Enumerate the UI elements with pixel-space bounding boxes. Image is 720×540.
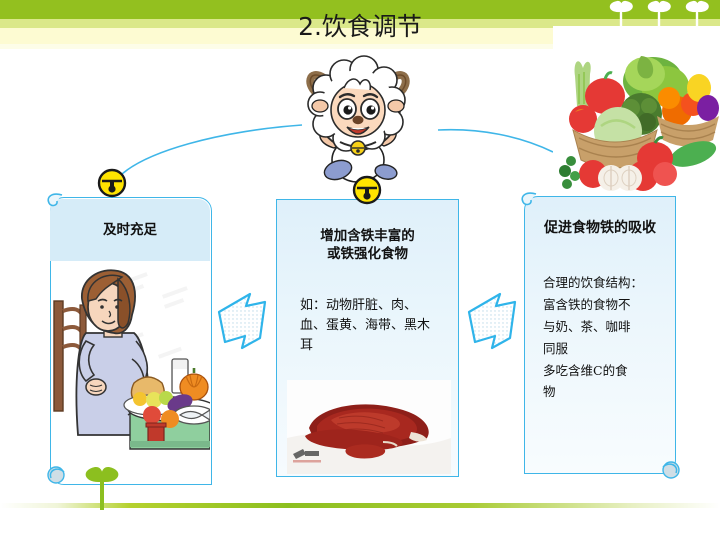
right-body-line-1: 合理的饮食结构： [543,272,669,294]
red-meat-liver-photo [287,380,451,474]
content-box-right-body: 合理的饮食结构： 富含铁的食物不 与奶、茶、咖啡 同服 多吃含维C的食 物 [543,272,669,403]
right-body-line-2: 富含铁的食物不 [543,294,669,316]
content-box-middle-title-line2: 或铁强化食物 [276,245,459,263]
bell-icon [352,175,382,205]
chevron-arrow-left[interactable] [466,290,518,352]
right-body-line-5: 多吃含维C的食 [543,360,669,382]
cartoon-sheep-mascot [294,48,422,188]
right-body-line-3: 与奶、茶、咖啡 [543,316,669,338]
content-box-middle-body: 如：动物肝脏、肉、血、蛋黄、海带、黑木耳 [300,296,440,356]
scroll-curl-icon [660,458,682,480]
right-body-line-6: 物 [543,381,669,403]
right-body-line-4: 同服 [543,338,669,360]
chevron-arrow-left[interactable] [216,290,268,352]
vegetable-basket-photo [553,26,720,191]
sprout-icon [78,466,126,510]
pregnant-woman-illustration [52,263,210,458]
scroll-curl-icon [44,191,64,211]
content-box-right-title: 促进食物铁的吸收 [524,217,676,237]
connector-curve-left [112,125,302,185]
connector-curve-right [438,130,553,152]
bell-icon [97,168,127,198]
page-title: 2.饮食调节 [0,7,720,43]
scroll-curl-icon [44,462,68,486]
content-box-middle-title: 增加含铁丰富的 或铁强化食物 [276,227,459,263]
scroll-curl-icon [518,190,538,210]
content-box-left-title: 及时充足 [50,218,210,238]
content-box-middle-title-line1: 增加含铁丰富的 [276,227,459,245]
slide-canvas: 2.饮食调节 [0,0,720,540]
